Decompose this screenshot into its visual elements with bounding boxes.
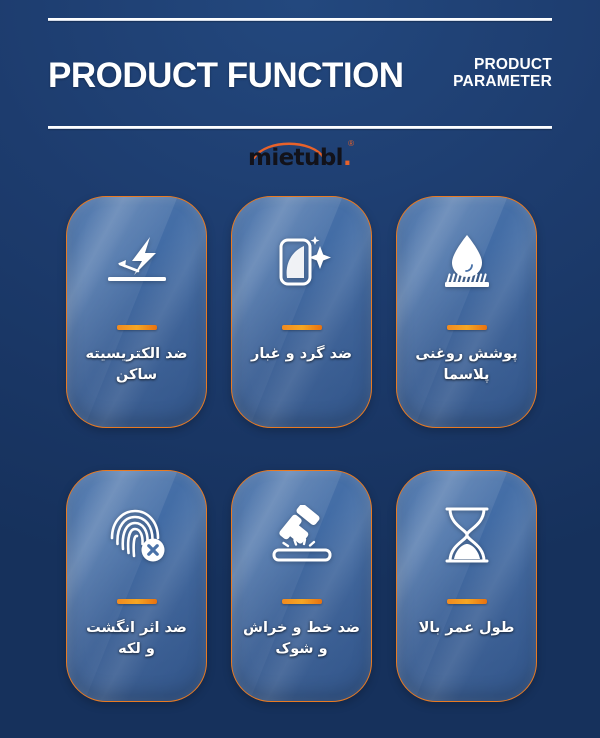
header-row: PRODUCT FUNCTION PRODUCT PARAMETER bbox=[48, 36, 552, 114]
logo-name: mietubl bbox=[248, 145, 343, 171]
hourglass-longevity-icon bbox=[397, 471, 536, 599]
feature-card-anti-static: ضد الکتریسیته ساکن bbox=[66, 196, 207, 428]
anti-scratch-hammer-icon bbox=[232, 471, 371, 599]
logo-dot: . bbox=[343, 145, 351, 171]
product-function-infographic: PRODUCT FUNCTION PRODUCT PARAMETER mietu… bbox=[0, 0, 600, 738]
logo-wordmark: mietubl. bbox=[248, 145, 344, 171]
accent-bar bbox=[117, 325, 157, 330]
feature-card-label: ضد گرد و غبار bbox=[239, 344, 365, 365]
label-line-1: ضد الکتریسیته bbox=[74, 344, 200, 365]
label-line-1: ضد خط و خراش bbox=[239, 618, 365, 639]
accent-bar bbox=[117, 599, 157, 604]
feature-card-label: طول عمر بالا bbox=[404, 618, 530, 639]
header-subtitle-line2: PARAMETER bbox=[453, 73, 552, 90]
header-subtitle-line1: PRODUCT bbox=[453, 56, 552, 73]
feature-card-anti-fingerprint: ضد اثر انگشت و لکه bbox=[66, 470, 207, 702]
feature-card-dustproof: ضد گرد و غبار bbox=[231, 196, 372, 428]
accent-bar bbox=[447, 599, 487, 604]
accent-bar bbox=[282, 325, 322, 330]
feature-card-longevity: طول عمر بالا bbox=[396, 470, 537, 702]
anti-static-icon bbox=[67, 197, 206, 325]
dustproof-phone-sparkle-icon bbox=[232, 197, 371, 325]
label-line-2: و لکه bbox=[74, 639, 200, 660]
label-line-2: و شوک bbox=[239, 639, 365, 660]
label-line-1: ضد گرد و غبار bbox=[239, 344, 365, 365]
label-line-1: ضد اثر انگشت bbox=[74, 618, 200, 639]
brand-logo: mietubl. ® bbox=[0, 136, 600, 176]
header-divider-bottom bbox=[48, 126, 552, 129]
label-line-1: پوشش روغنی bbox=[404, 344, 530, 365]
accent-bar bbox=[282, 599, 322, 604]
oleophobic-water-droplet-icon bbox=[397, 197, 536, 325]
trademark-symbol: ® bbox=[348, 139, 354, 148]
header-subtitle: PRODUCT PARAMETER bbox=[453, 56, 552, 95]
label-line-2: پلاسما bbox=[404, 365, 530, 386]
header-divider-top bbox=[48, 18, 552, 21]
page-title: PRODUCT FUNCTION bbox=[48, 58, 404, 93]
feature-card-oleophobic-coating: پوشش روغنی پلاسما bbox=[396, 196, 537, 428]
accent-bar bbox=[447, 325, 487, 330]
anti-fingerprint-icon bbox=[67, 471, 206, 599]
feature-card-label: پوشش روغنی پلاسما bbox=[404, 344, 530, 386]
label-line-2: ساکن bbox=[74, 365, 200, 386]
feature-card-anti-scratch-shock: ضد خط و خراش و شوک bbox=[231, 470, 372, 702]
label-line-1: طول عمر بالا bbox=[404, 618, 530, 639]
feature-card-label: ضد الکتریسیته ساکن bbox=[74, 344, 200, 386]
feature-card-label: ضد خط و خراش و شوک bbox=[239, 618, 365, 660]
feature-card-label: ضد اثر انگشت و لکه bbox=[74, 618, 200, 660]
feature-card-grid: ضد الکتریسیته ساکن ضد گرد و غبار bbox=[66, 196, 534, 702]
